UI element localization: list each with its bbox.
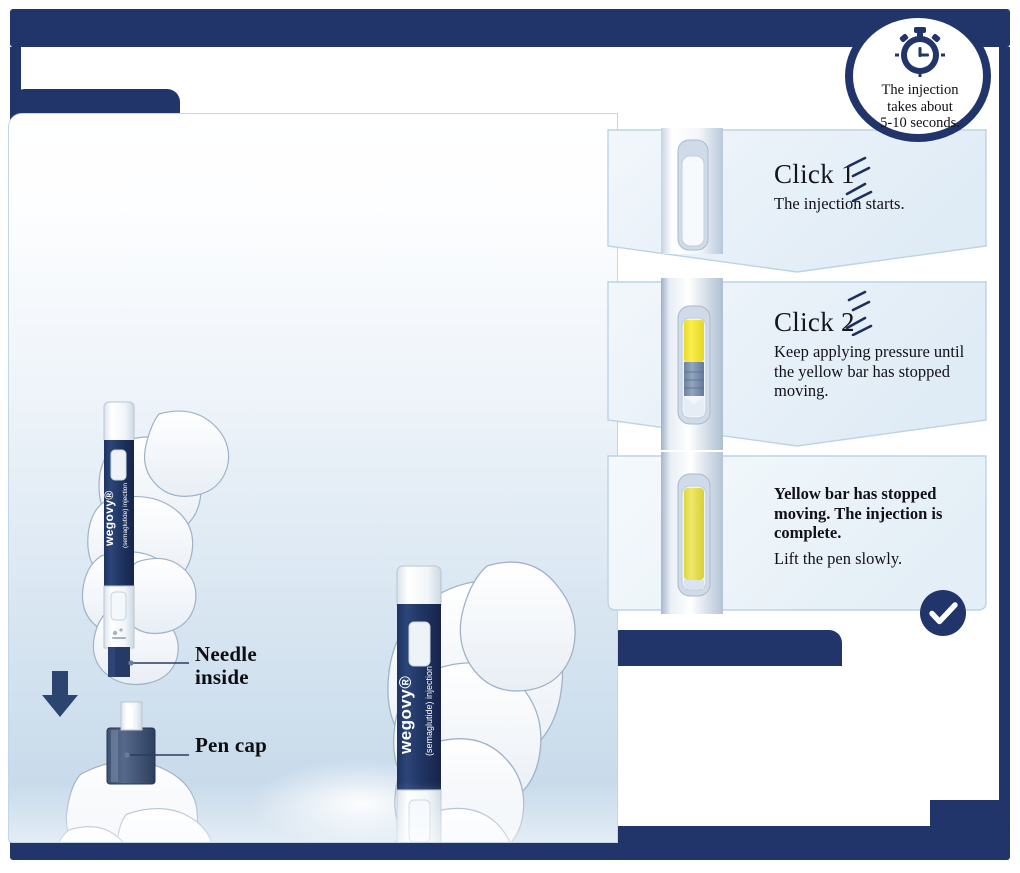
steps-container: Click 1 The injection starts. <box>604 126 994 614</box>
step-3-body-bold: Yellow bar has stopped moving. The injec… <box>774 484 980 543</box>
scene-pen-on-skin: wegovy® (semaglutide) injection <box>251 562 575 842</box>
pen-brand-small: wegovy® <box>102 490 116 547</box>
pen-subtitle-small: (semaglutide) injection <box>122 483 129 548</box>
step-panel-click-1: Click 1 The injection starts. <box>604 126 990 276</box>
sound-ticks-click-2 <box>845 290 885 336</box>
timer-line-3: 5-10 seconds. <box>880 115 960 131</box>
sound-ticks-click-1 <box>845 156 885 202</box>
pen-brand-large: wegovy® <box>396 676 415 755</box>
tab-bottom-right <box>607 630 842 666</box>
label-pen-cap: Pen cap <box>195 734 267 757</box>
label-pen-cap-line1: Pen cap <box>195 733 267 757</box>
timer-badge: The injection takes about 5-10 seconds. <box>845 10 995 142</box>
label-needle-line2: inside <box>195 665 249 689</box>
illustration-panel: wegovy® (semaglutide) injection <box>8 113 618 843</box>
label-needle-inside: Needle inside <box>195 643 257 689</box>
stopwatch-icon <box>894 26 946 78</box>
pen-subtitle-large: (semaglutide) injection <box>424 666 434 756</box>
step-panel-click-2: Click 2 Keep applying pressure until the… <box>604 278 990 450</box>
timer-line-2: takes about <box>887 99 953 115</box>
check-circle-icon <box>919 589 967 637</box>
timer-line-1: The injection <box>882 82 959 98</box>
step-3-text: Yellow bar has stopped moving. The injec… <box>774 478 980 568</box>
label-needle-line1: Needle <box>195 642 257 666</box>
frame-right-bar <box>999 47 1010 837</box>
arrow-cap-removal-icon <box>42 671 78 717</box>
step-3-body-plain: Lift the pen slowly. <box>774 549 980 569</box>
illustration-artwork: wegovy® (semaglutide) injection <box>9 114 617 842</box>
step-2-body: Keep applying pressure until the yellow … <box>774 342 980 401</box>
timer-text: The injection takes about 5-10 seconds. <box>845 82 995 132</box>
scene-hand-holding-cap <box>54 702 213 842</box>
